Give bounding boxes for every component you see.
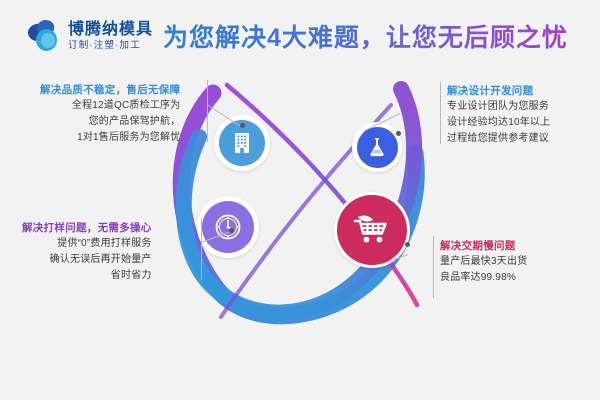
callout-sample: 解决打样问题，无需多操心 提供“0”费用打样服务 确认无误后再开始量产 省时省力 [22,222,152,284]
callout-delivery-title: 解决交期慢问题 [440,240,527,254]
rule-quality [207,80,208,142]
rule-sample [201,218,202,280]
icon-node-flask[interactable] [352,122,402,172]
leader-dot-delivery [405,242,410,247]
callout-delivery: 解决交期慢问题 量产后最快3天出货 良品率达99.98% [440,240,527,286]
brand-logo: 博腾纳模具 订制·注塑·加工 [28,20,153,52]
callout-quality-line-2: 您的产品保驾护航， [40,114,180,130]
leader-dot-design [396,131,401,136]
callout-sample-title: 解决打样问题，无需多操心 [22,222,152,236]
rule-delivery [433,236,434,298]
callout-sample-line-2: 确认无误后再开始量产 [22,252,152,268]
callout-quality-title: 解决品质不稳定，售后无保障 [40,84,180,98]
brand-name: 博腾纳模具 [68,22,153,38]
footer: 深圳市博腾纳科技有限公司创建于2010年，成立以来致力于模具开模、注塑 加工、喷… [0,325,600,400]
page-title: 为您解决4大难题，让您无后顾之忧 [163,18,568,54]
rule-design [440,82,441,144]
leader-dot-sample [229,228,234,233]
infographic-canvas: 博腾纳模具 订制·注塑·加工 为您解决4大难题，让您无后顾之忧 [0,0,600,400]
callout-design-line-1: 专业设计团队为您服务 [447,99,550,115]
callout-quality-line-3: 1对1售后服务为您解忧 [40,130,180,146]
callout-sample-line-1: 提供“0”费用打样服务 [22,236,152,252]
callout-delivery-line-1: 量产后最快3天出货 [440,254,527,270]
callout-design-line-2: 设计经验均达10年以上 [447,115,550,131]
callout-quality-line-1: 全程12道QC质检工序为 [40,98,180,114]
icon-node-clock[interactable] [197,196,259,258]
brand-tagline: 订制·注塑·加工 [68,41,153,51]
callout-quality: 解决品质不稳定，售后无保障 全程12道QC质检工序为 您的产品保驾护航， 1对1… [40,84,180,146]
callout-design: 解决设计开发问题 专业设计团队为您服务 设计经验均达10年以上 过程给您提供参考… [447,85,550,147]
water-drop-logo-icon [28,20,62,52]
callout-sample-line-3: 省时省力 [22,268,152,284]
clock-icon [202,201,254,253]
callout-design-title: 解决设计开发问题 [447,85,550,99]
lab-flask-icon [357,127,398,168]
header: 博腾纳模具 订制·注塑·加工 为您解决4大难题，让您无后顾之忧 [0,0,600,70]
leader-dot-quality [240,123,245,128]
callout-design-line-3: 过程给您提供参考建议 [447,131,550,147]
shopping-cart-icon [337,195,407,265]
callout-delivery-line-2: 良品率达99.98% [440,270,527,286]
